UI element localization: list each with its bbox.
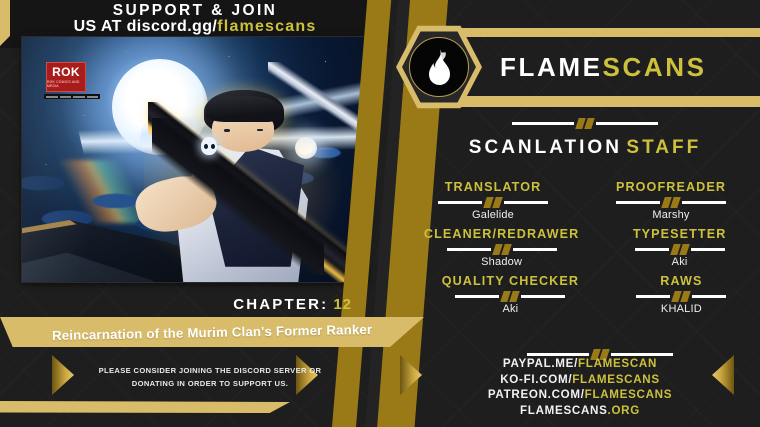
divider-line-left [635, 248, 669, 251]
divider-ornament [601, 244, 758, 254]
divider-pip [584, 118, 595, 129]
staff-row: CLEANER/REDRAWER Shadow TYPESETTER Aki [404, 227, 760, 268]
divider-ornament [584, 197, 758, 207]
link-text-white: PAYPAL.ME/ [503, 357, 578, 370]
divider-pips [663, 197, 679, 208]
discord-url-prefix: US AT discord.gg/ [74, 18, 218, 35]
staff-heading-divider [410, 118, 760, 128]
staff-row: TRANSLATOR Galelide PROOFREADER Marshy [404, 180, 760, 221]
divider-line-right [596, 122, 658, 125]
credit-segment [46, 96, 58, 98]
chapter-number: 12 [333, 296, 352, 313]
brand-header-bar-bottom [452, 96, 760, 107]
link-text-white: FLAMESCANS [520, 404, 608, 417]
divider-line-right [521, 295, 565, 298]
divider-pips [502, 291, 518, 302]
series-title-band: Reincarnation of the Murim Clan's Former… [0, 317, 424, 347]
link-text-white: KO-FI.COM/ [500, 373, 572, 386]
divider-pips [672, 244, 688, 255]
donation-link-kofi[interactable]: KO-FI.COM/FLAMESCANS [400, 372, 760, 388]
divider-pips [673, 291, 689, 302]
divider-line-right [504, 201, 548, 204]
support-line-2: US AT discord.gg/flamescans [0, 19, 390, 36]
staff-credit-quality-checker: QUALITY CHECKER Aki [418, 274, 603, 315]
staff-name: Galelide [406, 209, 580, 221]
chapter-header: CHAPTER: 12 [0, 291, 430, 317]
divider-pips [485, 197, 501, 208]
link-text-accent: FLAMESCANS [572, 373, 660, 386]
staff-role: TYPESETTER [601, 227, 758, 242]
divider-pip [501, 244, 512, 255]
staff-credit-typesetter: TYPESETTER Aki [599, 227, 760, 268]
donation-link-paypal[interactable]: PAYPAL.ME/FLAMESCAN [400, 356, 760, 372]
divider-pips [494, 244, 510, 255]
staff-name: Marshy [584, 209, 758, 221]
link-text-accent: FLAMESCANS [585, 388, 673, 401]
divider-ornament [410, 118, 760, 128]
support-line-1: SUPPORT & JOIN [0, 3, 390, 19]
divider-line-left [636, 295, 670, 298]
series-title: Reincarnation of the Murim Clan's Former… [52, 321, 373, 342]
staff-name: Shadow [406, 256, 597, 268]
divider-line-right [682, 201, 726, 204]
flame-icon [425, 48, 453, 86]
donation-link-patreon[interactable]: PATREON.COM/FLAMESCANS [400, 387, 760, 403]
support-note-line-2: DONATING IN ORDER TO SUPPORT US. [0, 377, 420, 390]
staff-role: PROOFREADER [584, 180, 758, 195]
staff-name: Aki [601, 256, 758, 268]
brand-name-part-2: SCANS [603, 52, 707, 83]
chapter-cover-artwork: ROK ROK COMICS AND MEDIA [22, 37, 367, 282]
credit-segment [73, 96, 85, 98]
staff-credit-raws: RAWS KHALID [603, 274, 760, 315]
divider-line-left [512, 122, 574, 125]
publisher-credit-bar [44, 94, 100, 99]
brand-title: FLAME SCANS [440, 40, 760, 94]
divider-pips [577, 118, 593, 129]
brand-name-part-1: FLAME [500, 52, 603, 83]
staff-role: RAWS [605, 274, 758, 289]
support-banner: SUPPORT & JOIN US AT discord.gg/flamesca… [0, 3, 390, 36]
divider-ornament [406, 197, 580, 207]
bottom-left-gold-bar [0, 401, 290, 413]
website-link[interactable]: FLAMESCANS.ORG [400, 403, 760, 419]
staff-name: KHALID [605, 303, 758, 315]
divider-line-left [447, 248, 491, 251]
staff-credit-proofreader: PROOFREADER Marshy [582, 180, 760, 221]
link-text-accent: FLAMESCAN [578, 357, 657, 370]
staff-role: TRANSLATOR [406, 180, 580, 195]
divider-ornament [420, 291, 601, 301]
donation-links: PAYPAL.ME/FLAMESCAN KO-FI.COM/FLAMESCANS… [400, 356, 760, 418]
staff-credit-translator: TRANSLATOR Galelide [404, 180, 582, 221]
divider-pip [510, 291, 521, 302]
publisher-badge-subtext: ROK COMICS AND MEDIA [47, 80, 85, 88]
divider-line-right [692, 295, 726, 298]
divider-pip [679, 244, 690, 255]
staff-name: Aki [420, 303, 601, 315]
link-text-white: PATREON.COM/ [488, 388, 585, 401]
support-note-line-1: PLEASE CONSIDER JOINING THE DISCORD SERV… [0, 364, 420, 377]
divider-line-left [455, 295, 499, 298]
divider-pip [681, 291, 692, 302]
publisher-badge-text: ROK [52, 66, 80, 78]
divider-pip [492, 197, 503, 208]
divider-pip [670, 197, 681, 208]
support-note: PLEASE CONSIDER JOINING THE DISCORD SERV… [0, 364, 420, 391]
logo-circle [409, 37, 469, 97]
divider-ornament [406, 244, 597, 254]
staff-heading-part-1: SCANLATION [469, 137, 622, 158]
publisher-badge: ROK ROK COMICS AND MEDIA [46, 62, 86, 92]
staff-credits-grid: TRANSLATOR Galelide PROOFREADER Marshy C… [404, 180, 760, 315]
staff-role: QUALITY CHECKER [420, 274, 601, 289]
staff-section-heading: SCANLATION STAFF [410, 137, 760, 159]
brand-logo-badge [396, 24, 482, 110]
staff-row: QUALITY CHECKER Aki RAWS KHALID [404, 274, 760, 315]
divider-line-left [438, 201, 482, 204]
staff-heading-part-2: STAFF [626, 137, 701, 158]
divider-line-left [616, 201, 660, 204]
link-text-accent: .ORG [608, 404, 640, 417]
chapter-label: CHAPTER: [233, 296, 328, 313]
staff-role: CLEANER/REDRAWER [406, 227, 597, 242]
divider-ornament [605, 291, 758, 301]
divider-line-right [513, 248, 557, 251]
staff-credit-cleaner-redrawer: CLEANER/REDRAWER Shadow [404, 227, 599, 268]
divider-line-right [691, 248, 725, 251]
credit-segment [87, 96, 99, 98]
discord-invite-code[interactable]: flamescans [217, 18, 316, 35]
credit-segment [60, 96, 72, 98]
